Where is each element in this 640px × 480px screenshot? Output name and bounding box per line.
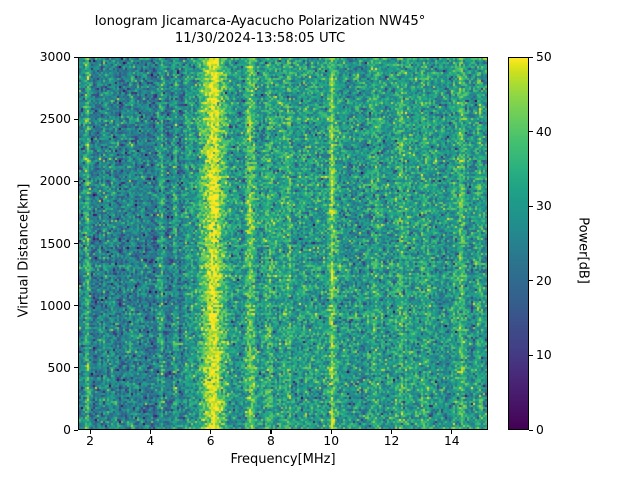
x-tick-label: 6 <box>207 434 215 448</box>
title-line-2: 11/30/2024-13:58:05 UTC <box>0 31 520 48</box>
x-axis-label: Frequency[MHz] <box>78 452 488 467</box>
y-tick-mark <box>74 430 78 431</box>
y-tick-label: 0 <box>10 423 71 437</box>
colorbar-tick-label: 40 <box>536 125 552 139</box>
y-axis-label: Virtual Distance[km] <box>17 161 32 341</box>
colorbar-tick-mark <box>529 280 533 281</box>
colorbar-tick-label: 10 <box>536 348 552 362</box>
ionogram-heatmap <box>79 58 488 430</box>
y-tick-label: 2500 <box>10 112 71 126</box>
y-tick-label: 3000 <box>10 50 71 64</box>
colorbar-tick-label: 50 <box>536 50 552 64</box>
y-tick-mark <box>74 181 78 182</box>
colorbar-tick-mark <box>529 206 533 207</box>
colorbar-label: Power[dB] <box>576 161 591 341</box>
colorbar-tick-label: 20 <box>536 274 552 288</box>
ionogram-plot-area <box>78 57 488 430</box>
y-tick-mark <box>74 305 78 306</box>
x-tick-label: 8 <box>267 434 275 448</box>
y-tick-mark <box>74 243 78 244</box>
y-tick-mark <box>74 119 78 120</box>
y-tick-mark <box>74 367 78 368</box>
colorbar-tick-mark <box>529 57 533 58</box>
x-tick-label: 14 <box>444 434 460 448</box>
ionogram-figure: Ionogram Jicamarca-Ayacucho Polarization… <box>0 0 640 480</box>
colorbar-tick-mark <box>529 430 533 431</box>
figure-title: Ionogram Jicamarca-Ayacucho Polarization… <box>0 14 520 47</box>
y-tick-mark <box>74 57 78 58</box>
title-line-1: Ionogram Jicamarca-Ayacucho Polarization… <box>95 14 426 29</box>
x-tick-label: 4 <box>146 434 154 448</box>
colorbar-tick-label: 0 <box>536 423 544 437</box>
y-tick-label: 500 <box>10 361 71 375</box>
x-tick-label: 12 <box>384 434 400 448</box>
power-colorbar <box>508 57 529 430</box>
x-tick-label: 10 <box>323 434 339 448</box>
colorbar-tick-label: 30 <box>536 199 552 213</box>
colorbar-tick-mark <box>529 131 533 132</box>
colorbar-tick-mark <box>529 355 533 356</box>
x-tick-label: 2 <box>86 434 94 448</box>
